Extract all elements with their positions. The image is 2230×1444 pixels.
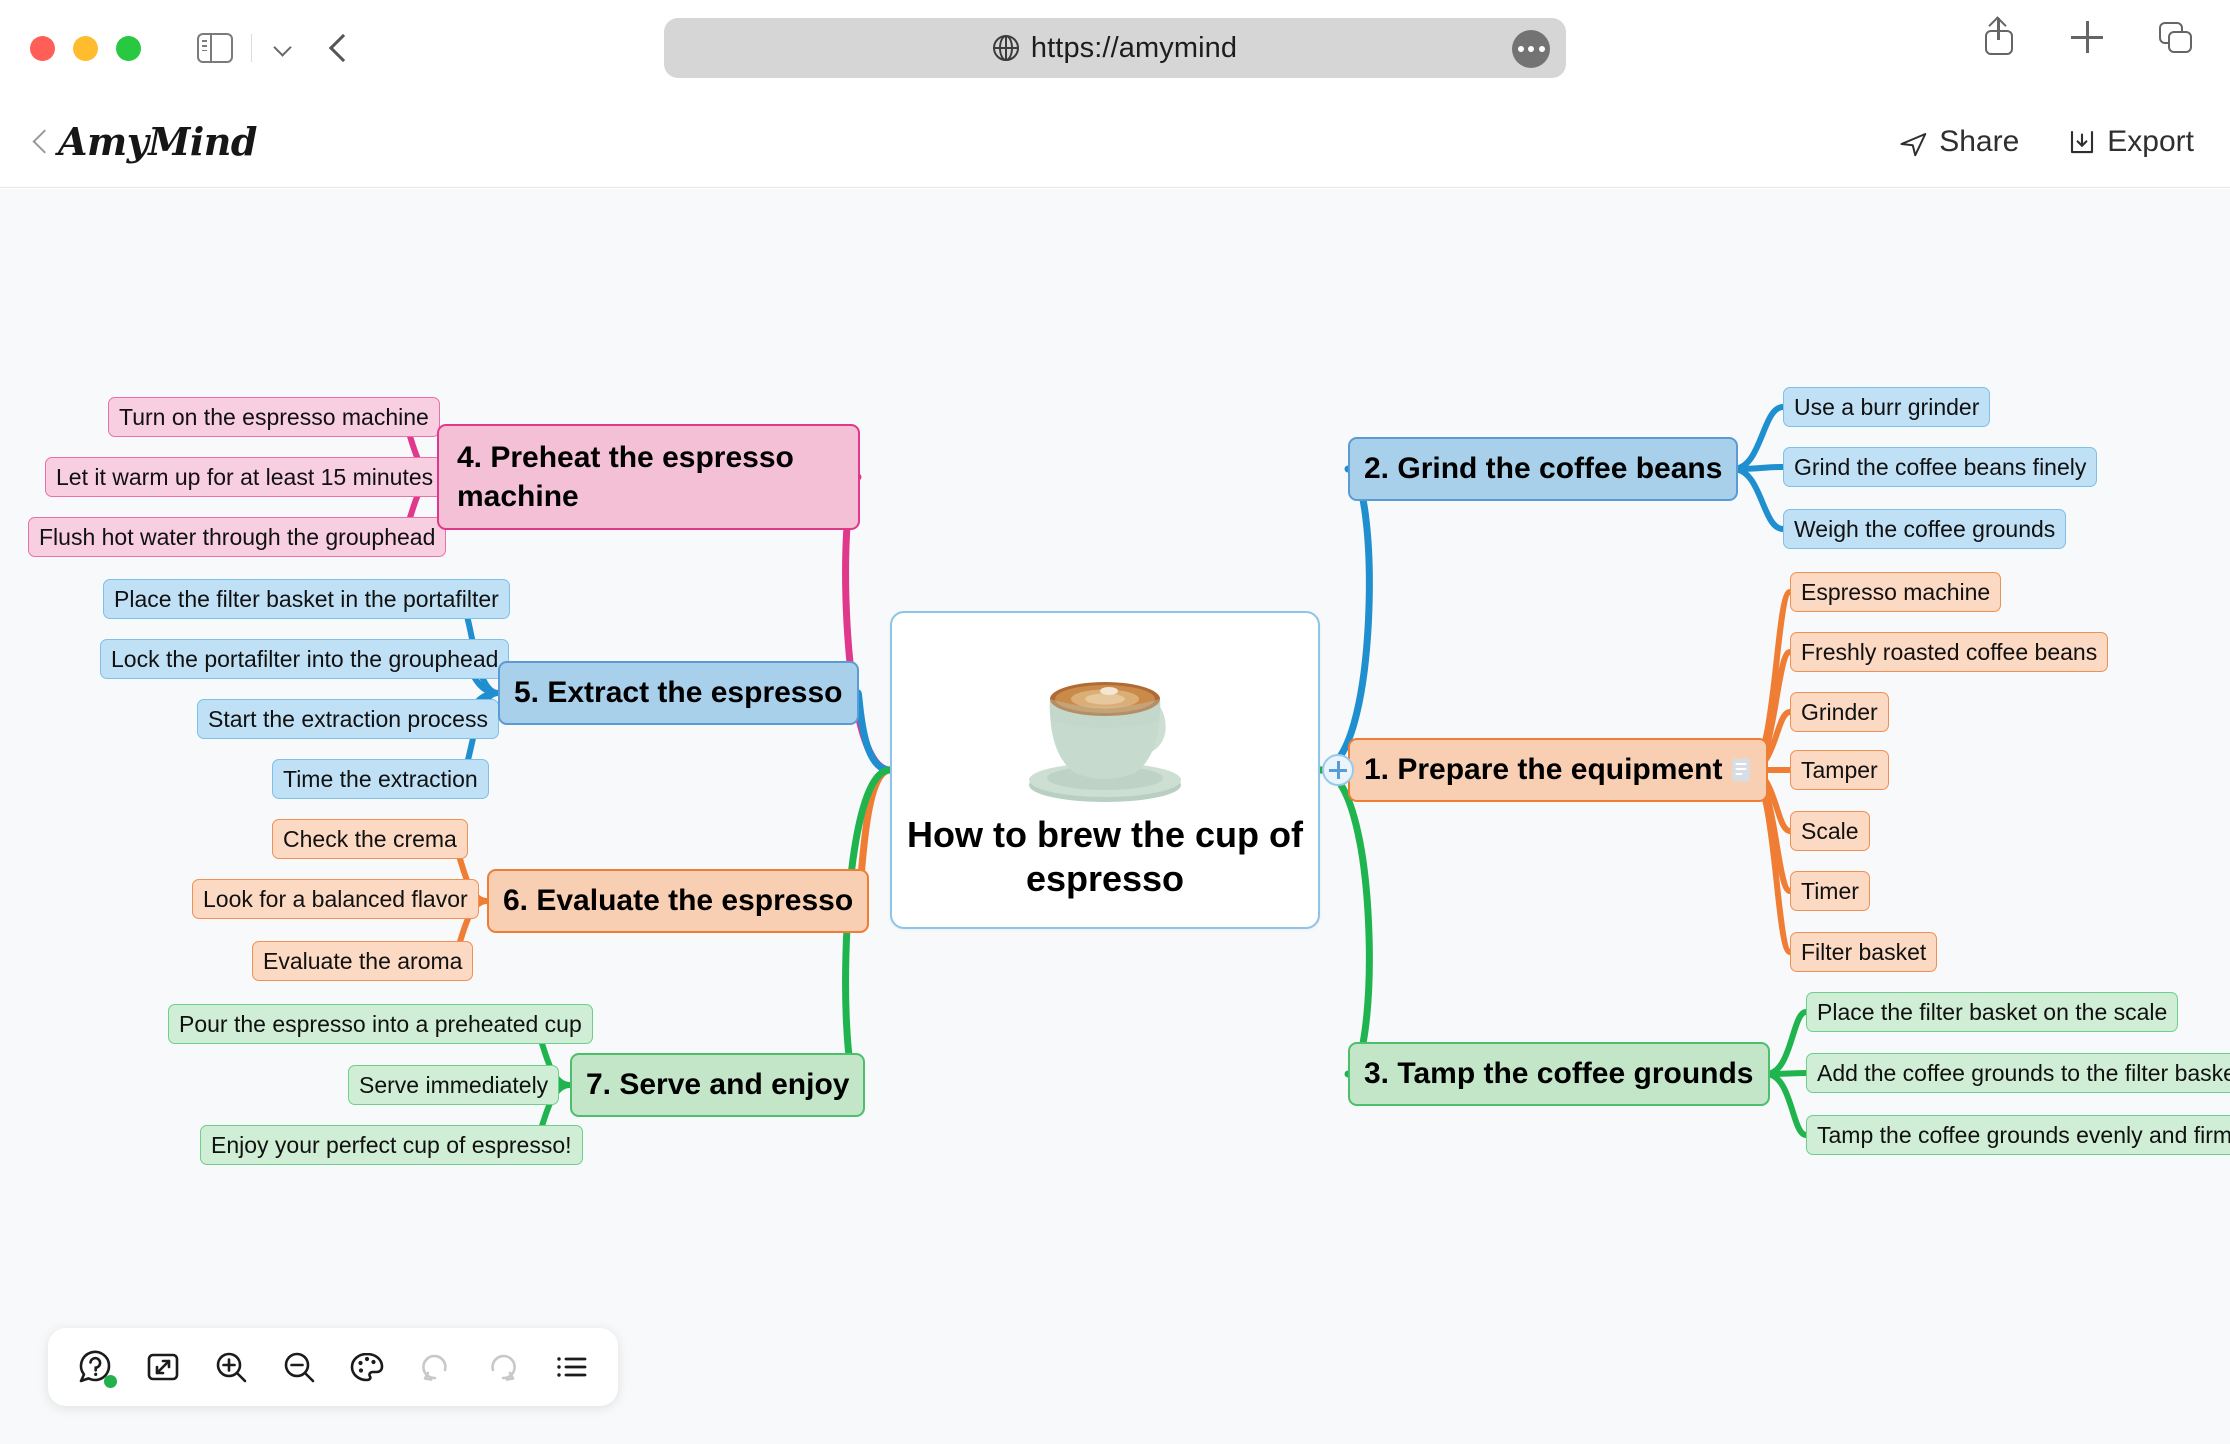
branch-node-tamp-the-coffee-grounds[interactable]: 3. Tamp the coffee grounds [1348,1042,1770,1106]
branch-label: 3. Tamp the coffee grounds [1364,1057,1754,1091]
share-button[interactable]: Share [1899,125,2019,159]
share-button-label: Share [1939,125,2019,159]
help-icon[interactable] [74,1346,116,1388]
leaf-label: Time the extraction [283,766,478,793]
zoom-in-icon[interactable] [210,1346,252,1388]
leaf-label: Tamp the coffee grounds evenly and firml… [1817,1122,2230,1149]
leaf-label: Filter basket [1801,939,1926,966]
leaf-label: Place the filter basket on the scale [1817,999,2167,1026]
leaf-node[interactable]: Enjoy your perfect cup of espresso! [200,1125,583,1165]
leaf-label: Scale [1801,818,1859,845]
maximize-window-button[interactable] [116,36,141,61]
espresso-cup-image [1005,639,1205,809]
leaf-node[interactable]: Check the crema [272,819,468,859]
header-actions: Share Export [1899,125,2194,159]
download-tray-icon [2067,127,2097,157]
branch-node-evaluate-the-espresso[interactable]: 6. Evaluate the espresso [487,869,869,933]
branch-node-prepare-the-equipment[interactable]: 1. Prepare the equipment [1348,738,1768,802]
leaf-label: Espresso machine [1801,579,1990,606]
brand-area[interactable]: AmyMind [32,119,257,164]
app-brand-name: AmyMind [58,119,257,164]
fit-to-screen-icon[interactable] [142,1346,184,1388]
leaf-label: Start the extraction process [208,706,488,733]
leaf-label: Flush hot water through the grouphead [39,524,435,551]
online-status-dot [104,1375,117,1388]
central-node[interactable]: How to brew the cup of espresso [890,611,1320,929]
branch-label: 7. Serve and enjoy [586,1068,849,1102]
collapse-expand-toggle-prepare-equipment[interactable] [1322,754,1354,786]
leaf-node[interactable]: Serve immediately [348,1065,559,1105]
url-text: https://amymind [1031,32,1237,65]
browser-back-button[interactable] [328,32,350,64]
zoom-out-icon[interactable] [278,1346,320,1388]
export-button[interactable]: Export [2067,125,2194,159]
new-tab-plus-icon[interactable] [2068,18,2106,56]
leaf-node[interactable]: Scale [1790,811,1870,851]
leaf-node[interactable]: Filter basket [1790,932,1937,972]
leaf-node[interactable]: Freshly roasted coffee beans [1790,632,2108,672]
outline-list-icon[interactable] [550,1346,592,1388]
branch-node-serve-and-enjoy[interactable]: 7. Serve and enjoy [570,1053,865,1117]
leaf-node[interactable]: Use a burr grinder [1783,387,1990,427]
sidebar-lines [202,40,207,54]
leaf-node[interactable]: Lock the portafilter into the grouphead [100,639,509,679]
toolbar-divider [251,34,252,62]
leaf-label: Pour the espresso into a preheated cup [179,1011,582,1038]
globe-icon [993,35,1019,61]
close-window-button[interactable] [30,36,55,61]
branch-label: 6. Evaluate the espresso [503,884,853,918]
leaf-node[interactable]: Espresso machine [1790,572,2001,612]
leaf-node[interactable]: Turn on the espresso machine [108,397,440,437]
chevron-down-icon[interactable] [274,39,292,57]
mindmap-canvas[interactable]: How to brew the cup of espresso 2. Grind… [0,189,2230,1444]
leaf-label: Check the crema [283,826,457,853]
leaf-label: Evaluate the aroma [263,948,462,975]
leaf-label: Timer [1801,878,1859,905]
branch-label: 5. Extract the espresso [514,676,843,710]
leaf-node[interactable]: Time the extraction [272,759,489,799]
leaf-node[interactable]: Tamp the coffee grounds evenly and firml… [1806,1115,2230,1155]
leaf-label: Enjoy your perfect cup of espresso! [211,1132,572,1159]
branch-node-preheat-the-espresso-machine[interactable]: 4. Preheat the espresso machine [437,424,860,530]
leaf-node[interactable]: Pour the espresso into a preheated cup [168,1004,593,1044]
leaf-label: Let it warm up for at least 15 minutes [56,464,433,491]
leaf-node[interactable]: Timer [1790,871,1870,911]
leaf-node[interactable]: Start the extraction process [197,699,499,739]
paper-plane-icon [1899,127,1929,157]
leaf-node[interactable]: Flush hot water through the grouphead [28,517,446,557]
address-bar[interactable]: https://amymind [664,18,1566,78]
leaf-label: Serve immediately [359,1072,548,1099]
leaf-label: Look for a balanced flavor [203,886,468,913]
leaf-node[interactable]: Weigh the coffee grounds [1783,509,2066,549]
leaf-label: Turn on the espresso machine [119,404,429,431]
leaf-label: Use a burr grinder [1794,394,1979,421]
export-button-label: Export [2107,125,2194,159]
leaf-label: Grind the coffee beans finely [1794,454,2086,481]
central-node-title: How to brew the cup of espresso [905,813,1305,901]
leaf-node[interactable]: Place the filter basket in the portafilt… [103,579,510,619]
bottom-toolbar [48,1328,618,1406]
leaf-label: Grinder [1801,699,1878,726]
branch-label: 1. Prepare the equipment [1364,753,1722,787]
color-palette-icon[interactable] [346,1346,388,1388]
leaf-label: Weigh the coffee grounds [1794,516,2055,543]
leaf-label: Place the filter basket in the portafilt… [114,586,499,613]
leaf-node[interactable]: Look for a balanced flavor [192,879,479,919]
leaf-node[interactable]: Grinder [1790,692,1889,732]
branch-node-grind-coffee-beans[interactable]: 2. Grind the coffee beans [1348,437,1738,501]
redo-icon[interactable] [482,1346,524,1388]
sidebar-toggle-icon[interactable] [197,33,233,63]
tabs-overview-icon[interactable] [2156,18,2194,56]
minimize-window-button[interactable] [73,36,98,61]
leaf-label: Add the coffee grounds to the filter bas… [1817,1060,2230,1087]
note-document-icon[interactable] [1730,757,1752,783]
leaf-label: Lock the portafilter into the grouphead [111,646,498,673]
more-options-icon[interactable] [1512,30,1550,68]
browser-toolbar: https://amymind [0,0,2230,96]
app-back-icon[interactable] [32,128,50,156]
leaf-node[interactable]: Grind the coffee beans finely [1783,447,2097,487]
branch-label: 4. Preheat the espresso machine [457,438,840,516]
window-traffic-lights [30,36,141,61]
leaf-label: Freshly roasted coffee beans [1801,639,2097,666]
leaf-node[interactable]: Let it warm up for at least 15 minutes [45,457,444,497]
branch-node-extract-the-espresso[interactable]: 5. Extract the espresso [498,661,859,725]
leaf-label: Tamper [1801,757,1878,784]
share-icon[interactable] [1980,18,2018,56]
branch-label: 2. Grind the coffee beans [1364,452,1722,486]
leaf-node[interactable]: Evaluate the aroma [252,941,473,981]
app-header: AmyMind Share Export [0,96,2230,188]
leaf-node[interactable]: Tamper [1790,750,1889,790]
leaf-node[interactable]: Add the coffee grounds to the filter bas… [1806,1053,2230,1093]
browser-right-controls [1980,18,2194,56]
leaf-node[interactable]: Place the filter basket on the scale [1806,992,2178,1032]
undo-icon[interactable] [414,1346,456,1388]
